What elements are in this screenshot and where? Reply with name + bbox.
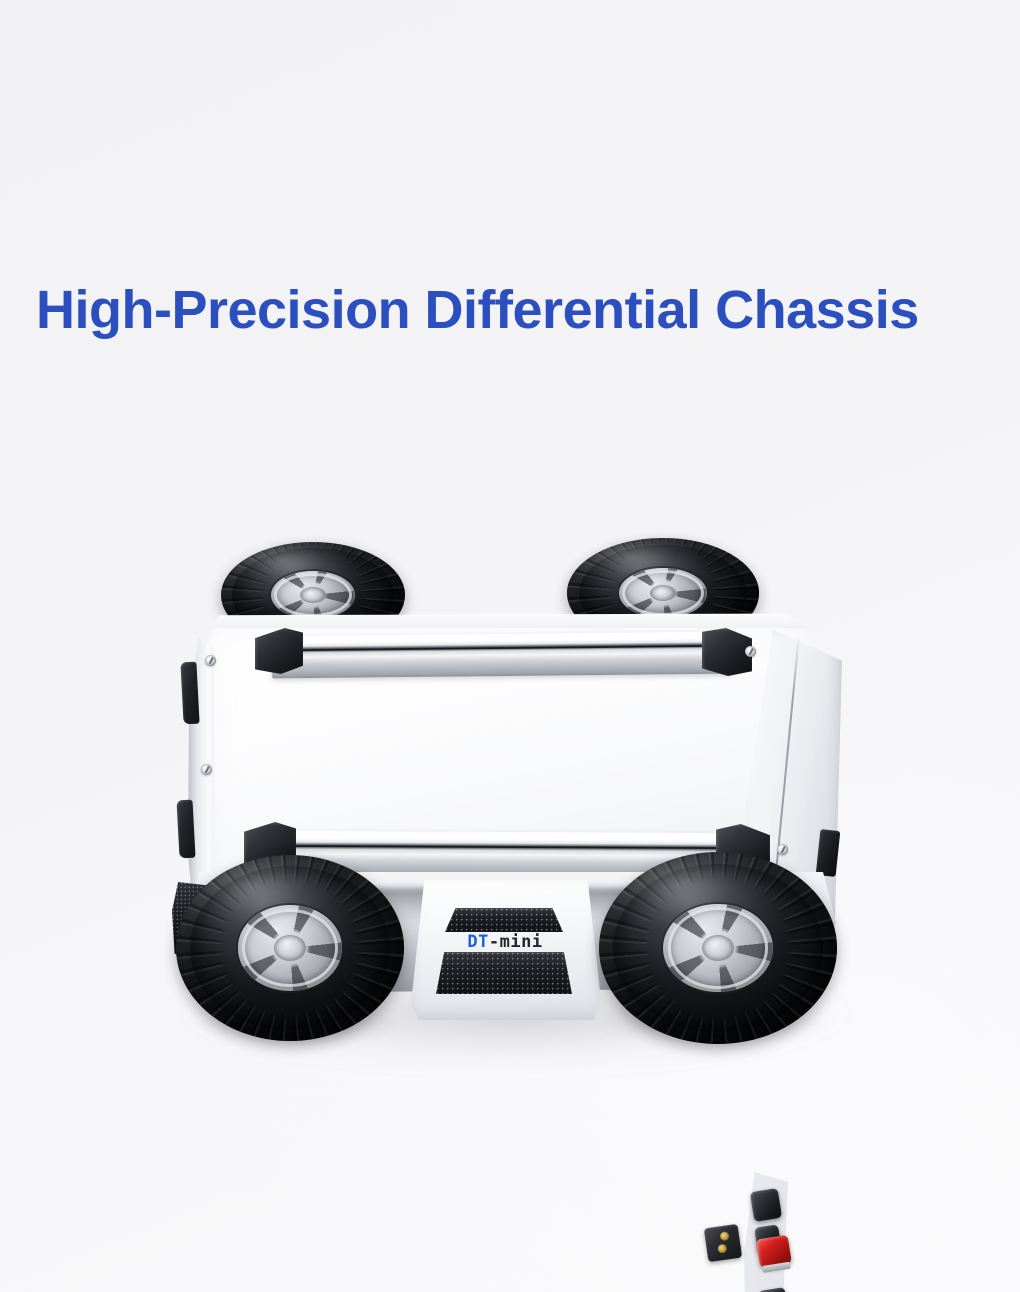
left-fender-pad-bottom — [176, 800, 195, 859]
top-plate-bevel — [208, 612, 808, 628]
front-right-wheel — [599, 852, 837, 1044]
product-hero-image: DT-mini — [0, 500, 1020, 1140]
wheel-hub — [619, 568, 707, 619]
product-brand-logo: DT-mini — [445, 934, 565, 951]
body-screw — [777, 844, 788, 855]
wheel-hub — [238, 905, 343, 991]
brand-logo-prefix: DT — [467, 932, 488, 952]
body-screw — [745, 646, 756, 657]
connector-pin-2 — [717, 1244, 727, 1254]
left-fender-pad-top — [180, 662, 199, 725]
body-screw — [205, 655, 216, 666]
right-fender-pad — [816, 829, 841, 877]
wheel-rim — [274, 573, 352, 618]
front-left-wheel — [176, 855, 404, 1041]
body-screw — [201, 764, 212, 775]
robot-chassis: DT-mini — [0, 500, 1020, 1140]
top-mounting-rail — [272, 632, 734, 679]
wheel-hub — [663, 904, 772, 992]
wheel-rim — [622, 570, 703, 617]
front-grille-lower — [436, 952, 572, 994]
emergency-stop-button — [756, 1235, 792, 1270]
page-title: High-Precision Differential Chassis — [36, 283, 996, 337]
wheel-rim — [668, 907, 769, 988]
front-grille-upper — [445, 908, 563, 932]
aviation-connector-1 — [750, 1188, 782, 1222]
wheel-rim — [242, 909, 339, 988]
connector-pin-1 — [719, 1231, 729, 1241]
power-connector — [704, 1224, 742, 1262]
brand-logo-suffix: -mini — [489, 932, 543, 952]
